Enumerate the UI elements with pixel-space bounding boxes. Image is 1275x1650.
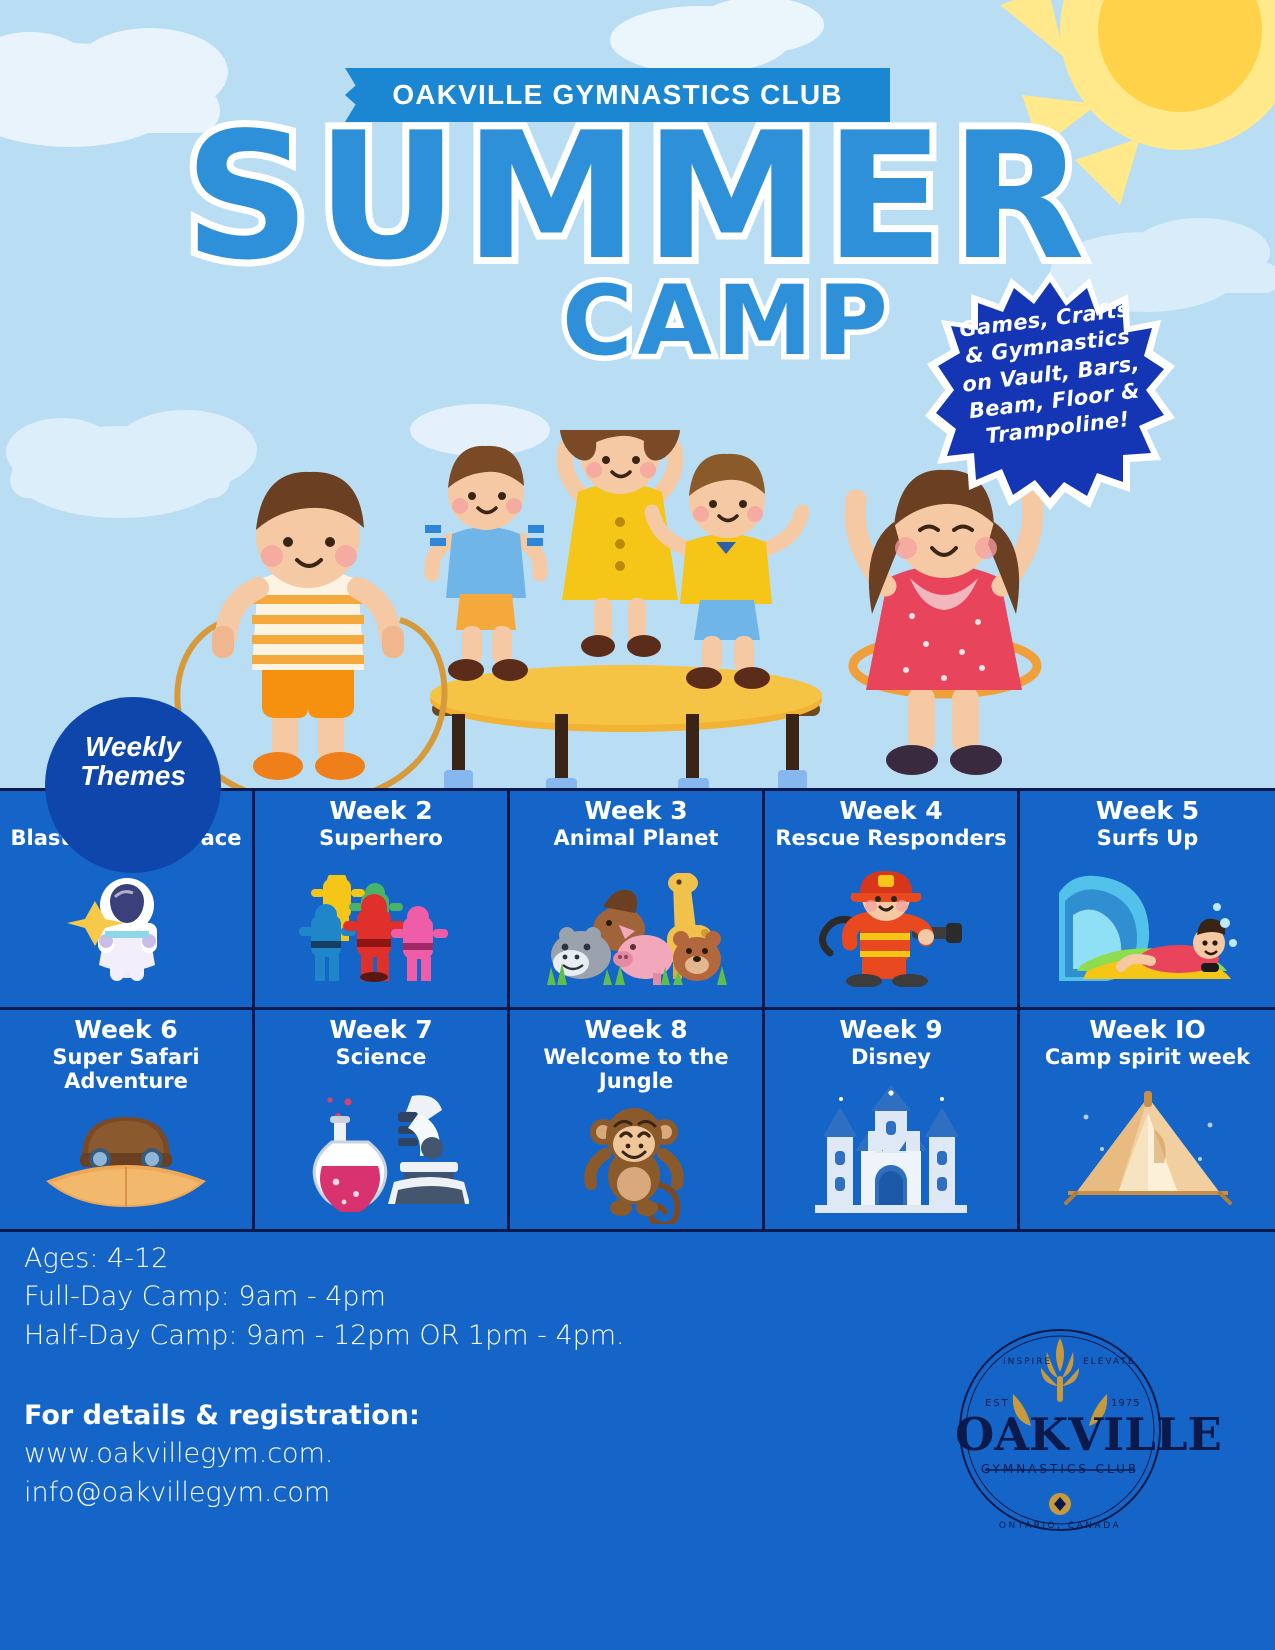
week-cell-8[interactable]: Week 8 Welcome to the Jungle — [510, 1010, 765, 1229]
week-subtitle: Disney — [847, 1046, 935, 1070]
week-cell-6[interactable]: Week 6 Super Safari Adventure — [0, 1010, 255, 1229]
superheroes-icon — [255, 851, 507, 1007]
weekly-themes-badge: Weekly Themes — [45, 697, 221, 873]
week-subtitle: Super Safari Adventure — [0, 1046, 252, 1093]
activities-starburst-badge: Games, Crafts & Gymnastics on Vault, Bar… — [925, 270, 1175, 510]
microscope-icon — [255, 1070, 507, 1229]
week-title: Week IO — [1089, 1016, 1205, 1044]
weekly-themes-grid: Week I Blast off into Space — [0, 788, 1275, 1232]
cloud-icon — [610, 0, 824, 74]
week-title: Week 5 — [1096, 797, 1199, 825]
week-title: Week 7 — [329, 1016, 432, 1044]
week-cell-5[interactable]: Week 5 Surfs Up — [1020, 791, 1275, 1010]
info-full-day: Full-Day Camp: 9am - 4pm — [24, 1278, 804, 1316]
registration-heading: For details & registration: — [24, 1397, 804, 1435]
week-title: Week 4 — [839, 797, 942, 825]
week-subtitle: Rescue Responders — [771, 827, 1010, 851]
camp-info-block: Ages: 4-12 Full-Day Camp: 9am - 4pm Half… — [24, 1240, 804, 1512]
week-subtitle: Superhero — [315, 827, 447, 851]
week-cell-9[interactable]: Week 9 Disney — [765, 1010, 1020, 1229]
week-subtitle: Camp spirit week — [1041, 1046, 1254, 1070]
monkey-icon — [510, 1093, 762, 1229]
jumping-boy-yellow-icon — [652, 454, 802, 689]
week-subtitle: Science — [332, 1046, 431, 1070]
castle-icon — [765, 1070, 1017, 1229]
weekly-themes-line2: Themes — [80, 761, 186, 790]
poster-root: OAKVILLE GYMNASTICS CLUB SUMMER CAMP Gam… — [0, 0, 1275, 1650]
week-cell-10[interactable]: Week IO Camp spirit week — [1020, 1010, 1275, 1229]
week-subtitle: Animal Planet — [550, 827, 723, 851]
starburst-text: Games, Crafts & Gymnastics on Vault, Bar… — [945, 295, 1156, 454]
firefighter-icon — [765, 851, 1017, 1007]
week-cell-7[interactable]: Week 7 Science — [255, 1010, 510, 1229]
info-half-day: Half-Day Camp: 9am - 12pm OR 1pm - 4pm. — [24, 1317, 804, 1355]
week-title: Week 3 — [584, 797, 687, 825]
week-cell-3[interactable]: Week 3 Animal Planet — [510, 791, 765, 1010]
week-subtitle: Welcome to the Jungle — [510, 1046, 762, 1093]
week-title: Week 6 — [74, 1016, 177, 1044]
website-link[interactable]: www.oakvillegym.com. — [24, 1435, 804, 1473]
email-link[interactable]: info@oakvillegym.com — [24, 1474, 804, 1512]
jumping-boy-blue-icon — [425, 446, 544, 681]
week-title: Week 8 — [584, 1016, 687, 1044]
tent-icon — [1020, 1070, 1275, 1229]
jump-rope-boy-icon — [177, 472, 444, 800]
title-summer: SUMMER — [0, 110, 1275, 285]
hula-hoop-girl-icon — [853, 470, 1037, 775]
logo-wordmark: OAKVILLE — [955, 1408, 1165, 1461]
surfer-icon — [1020, 851, 1275, 1007]
oakville-logo: INSPIRE ELEVATE EST 1975 ONTARIO, CANADA… — [955, 1320, 1165, 1540]
week-subtitle: Surfs Up — [1093, 827, 1202, 851]
logo-subtitle: GYMNASTICS CLUB — [955, 1462, 1165, 1476]
logo-top-right-text: ELEVATE — [1083, 1357, 1136, 1367]
week-cell-4[interactable]: Week 4 Rescue Responders — [765, 791, 1020, 1010]
logo-top-left-text: INSPIRE — [1003, 1357, 1052, 1367]
safari-hat-icon — [0, 1093, 252, 1229]
weekly-themes-line1: Weekly — [85, 732, 181, 761]
logo-bottom-arc-text: ONTARIO, CANADA — [999, 1521, 1121, 1531]
week-cell-2[interactable]: Week 2 Superhero — [255, 791, 510, 1010]
info-ages: Ages: 4-12 — [24, 1240, 804, 1278]
week-title: Week 9 — [839, 1016, 942, 1044]
animals-icon — [510, 851, 762, 1007]
astronaut-icon — [0, 851, 252, 1007]
week-title: Week 2 — [329, 797, 432, 825]
